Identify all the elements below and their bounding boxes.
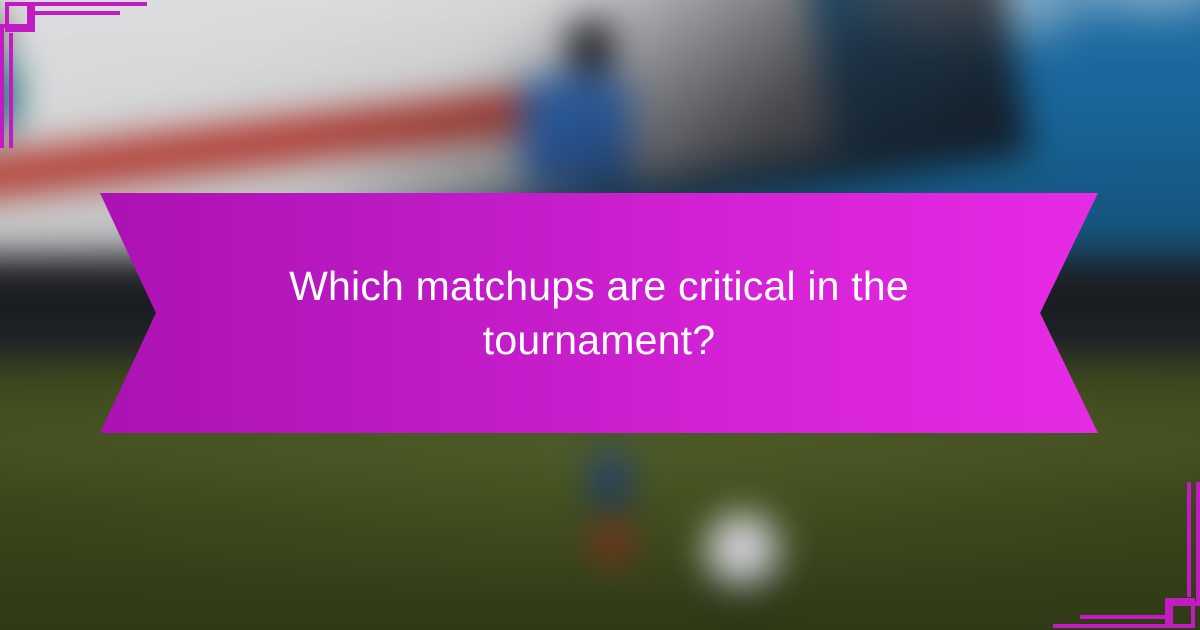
corner-ornament-top-left [0,0,260,150]
headline-banner: Which matchups are critical in the tourn… [100,193,1098,433]
ornament-line-br-bottom-long [1053,624,1173,628]
page-title: Which matchups are critical in the tourn… [249,259,949,367]
ornament-line-br-vert-inner [1187,482,1191,597]
headline-banner-inner: Which matchups are critical in the tourn… [249,259,949,367]
ornament-line-tl-top-long [27,2,147,6]
ornament-line-tl-vert-long [0,24,4,148]
ornament-line-br-bottom-short [1080,615,1170,619]
ornament-line-tl-elbow [0,24,31,28]
ornament-line-tl-top-short [30,11,120,15]
ornament-line-br-vert-long [1196,482,1200,606]
social-card: DN Which matchups are critical in the [0,0,1200,630]
ornament-line-tl-vert-inner [9,33,13,148]
corner-ornament-bottom-right [940,480,1200,630]
